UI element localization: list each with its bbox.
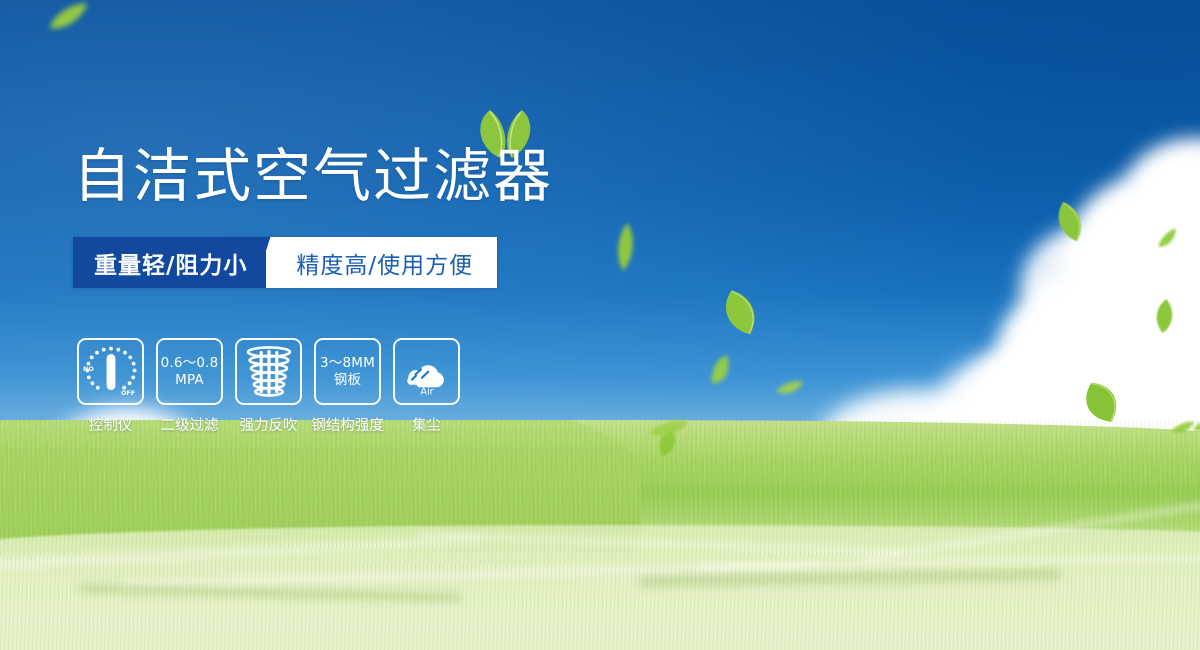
feature-item-steel[interactable]: 3～8MM 钢板 钢结构强度 — [314, 338, 381, 435]
feature-box-control: NO OFF — [77, 338, 144, 405]
feature-item-backblow[interactable]: 强力反吹 — [235, 338, 302, 435]
gauge-control-icon: NO OFF — [81, 343, 141, 400]
pressure-unit-text: MPA — [175, 372, 204, 388]
subtitle-right-text: 精度高/使用方便 — [294, 237, 497, 288]
cloud-air-icon: Air — [399, 347, 455, 397]
steel-plate-text: 钢板 — [334, 372, 361, 388]
air-label: Air — [420, 386, 433, 397]
feature-label-backblow: 强力反吹 — [240, 414, 298, 435]
feature-label-control: 控制仪 — [89, 414, 133, 435]
feature-label-steel: 钢结构强度 — [311, 414, 384, 435]
feature-box-dust: Air — [393, 338, 460, 405]
feature-item-control[interactable]: NO OFF 控制仪 — [77, 338, 144, 435]
subtitle-slash-divider — [266, 237, 294, 288]
steel-thickness-text: 3～8MM — [320, 355, 375, 371]
feature-box-steel: 3～8MM 钢板 — [314, 338, 381, 405]
gauge-off-label: OFF — [121, 389, 135, 397]
feature-item-pressure[interactable]: 0.6～0.8 MPA 二级过滤 — [156, 338, 223, 435]
feature-box-backblow — [235, 338, 302, 405]
pressure-range-text: 0.6～0.8 — [161, 355, 219, 371]
subtitle-left-text: 重量轻/阻力小 — [73, 237, 266, 288]
gauge-no-label: NO — [83, 365, 94, 373]
subtitle-bar: 重量轻/阻力小 精度高/使用方便 — [73, 237, 497, 288]
feature-box-pressure: 0.6～0.8 MPA — [156, 338, 223, 405]
page-title: 自洁式空气过滤器 — [73, 146, 553, 207]
coil-filter-icon — [244, 346, 294, 398]
banner-stage: 自洁式空气过滤器 重量轻/阻力小 精度高/使用方便 — [0, 0, 1200, 650]
feature-label-pressure: 二级过滤 — [161, 414, 219, 435]
feature-label-dust: 集尘 — [412, 414, 441, 435]
feature-list: NO OFF 控制仪 0.6～0.8 MPA 二级过滤 — [77, 338, 460, 435]
feature-item-dust[interactable]: Air 集尘 — [393, 338, 460, 435]
